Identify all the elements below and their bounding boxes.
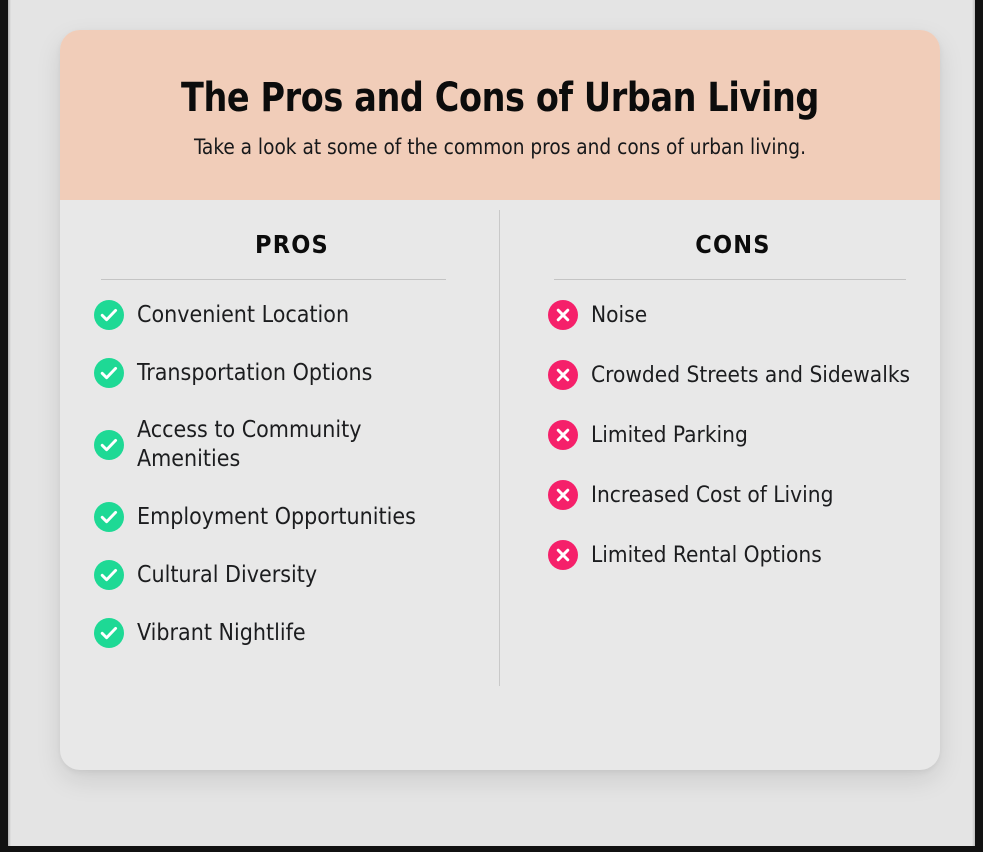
cons-item-label: Limited Rental Options xyxy=(591,541,822,569)
x-circle-icon xyxy=(548,480,578,510)
cons-item-label: Limited Parking xyxy=(591,421,748,449)
list-item: Increased Cost of Living xyxy=(548,480,918,510)
page-edge-shadow-right xyxy=(972,0,975,846)
list-item: Crowded Streets and Sidewalks xyxy=(548,360,918,390)
cons-item-label: Increased Cost of Living xyxy=(591,481,833,509)
x-circle-icon xyxy=(548,300,578,330)
pros-item-label: Vibrant Nightlife xyxy=(137,619,306,648)
pros-item-label: Employment Opportunities xyxy=(137,503,416,532)
list-item: Access to Community Amenities xyxy=(94,416,490,474)
card-body: PROS Convenient Location xyxy=(60,200,940,770)
check-circle-icon xyxy=(94,560,124,590)
pros-item-label: Convenient Location xyxy=(137,301,349,330)
viewport: The Pros and Cons of Urban Living Take a… xyxy=(0,0,983,852)
page-edge-shadow-left xyxy=(8,0,11,846)
page-surface: The Pros and Cons of Urban Living Take a… xyxy=(8,0,975,846)
cons-item-label: Crowded Streets and Sidewalks xyxy=(591,361,910,389)
check-circle-icon xyxy=(94,502,124,532)
x-circle-icon xyxy=(548,420,578,450)
cons-item-label: Noise xyxy=(591,301,647,329)
check-circle-icon xyxy=(94,300,124,330)
pros-column: PROS Convenient Location xyxy=(60,200,500,770)
list-item: Convenient Location xyxy=(94,300,490,330)
list-item: Cultural Diversity xyxy=(94,560,490,590)
check-circle-icon xyxy=(94,618,124,648)
list-item: Transportation Options xyxy=(94,358,490,388)
page-subtitle: Take a look at some of the common pros a… xyxy=(78,136,923,160)
pros-list: Convenient Location Transportation Optio… xyxy=(94,300,490,648)
list-item: Limited Rental Options xyxy=(548,540,918,570)
pros-item-label: Transportation Options xyxy=(137,359,372,388)
x-circle-icon xyxy=(548,360,578,390)
pros-item-label: Cultural Diversity xyxy=(137,561,317,590)
card-header: The Pros and Cons of Urban Living Take a… xyxy=(60,30,940,200)
check-circle-icon xyxy=(94,358,124,388)
page-title: The Pros and Cons of Urban Living xyxy=(91,78,909,118)
pros-heading: PROS xyxy=(94,230,490,259)
cons-column: CONS Noise xyxy=(500,200,940,770)
cons-rule xyxy=(554,279,906,280)
cons-list: Noise Crowded Streets and Sidewalks xyxy=(548,300,918,570)
list-item: Limited Parking xyxy=(548,420,918,450)
pros-cons-card: The Pros and Cons of Urban Living Take a… xyxy=(60,30,940,770)
x-circle-icon xyxy=(548,540,578,570)
list-item: Vibrant Nightlife xyxy=(94,618,490,648)
cons-heading: CONS xyxy=(548,230,918,259)
pros-rule xyxy=(101,279,446,280)
check-circle-icon xyxy=(94,430,124,460)
list-item: Noise xyxy=(548,300,918,330)
list-item: Employment Opportunities xyxy=(94,502,490,532)
pros-item-label: Access to Community Amenities xyxy=(137,416,467,474)
